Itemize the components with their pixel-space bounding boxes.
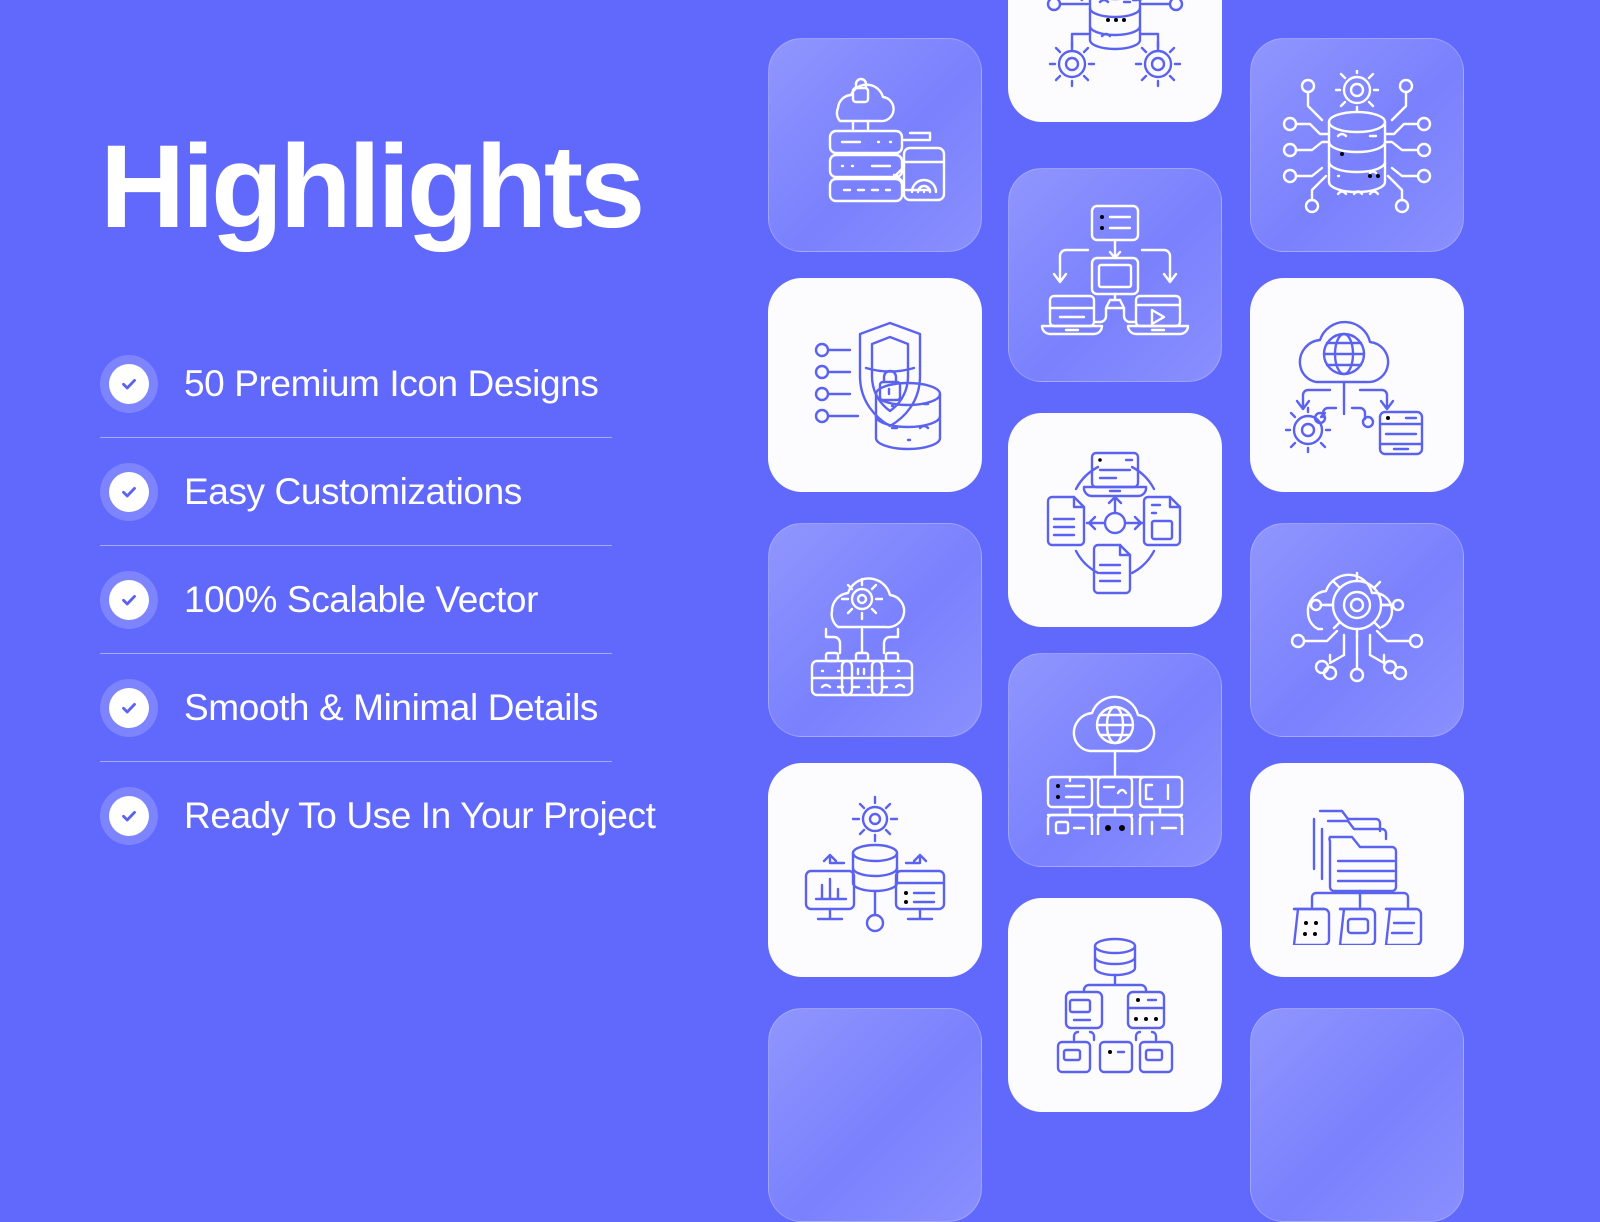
cloud-globe-gear-server-icon [1282, 310, 1432, 460]
list-item: 50 Premium Icon Designs [100, 330, 612, 437]
icon-card-database-tree-structure[interactable] [1008, 898, 1222, 1112]
check-badge [100, 571, 158, 629]
list-item: Smooth & Minimal Details [100, 654, 612, 761]
list-item-label: Ready To Use In Your Project [184, 795, 655, 837]
check-icon [109, 472, 149, 512]
icon-card-partial-bottom-left[interactable] [768, 1008, 982, 1222]
icon-grid [740, 0, 1600, 1067]
shield-lock-database-icon [800, 310, 950, 460]
database-gear-circuit-icon [1282, 70, 1432, 220]
cloud-gear-circuit-icon [1282, 555, 1432, 705]
check-icon [109, 796, 149, 836]
icon-card-cloud-database-gears[interactable] [1008, 0, 1222, 122]
partial-card-left-icon [800, 1040, 950, 1190]
icon-card-cloud-globe-gear-server[interactable] [1250, 278, 1464, 492]
icon-card-folder-hierarchy[interactable] [1250, 763, 1464, 977]
list-item-label: Easy Customizations [184, 471, 522, 513]
list-item: 100% Scalable Vector [100, 546, 612, 653]
list-item: Easy Customizations [100, 438, 612, 545]
icon-card-cloud-lock-server-fingerprint[interactable] [768, 38, 982, 252]
document-sync-devices-icon [1040, 445, 1190, 595]
icon-card-cloud-globe-network-nodes[interactable] [1008, 653, 1222, 867]
icon-card-partial-bottom-right[interactable] [1250, 1008, 1464, 1222]
check-badge [100, 679, 158, 737]
highlight-list: 50 Premium Icon Designs Easy Customizati… [100, 330, 612, 869]
cloud-globe-network-nodes-icon [1040, 685, 1190, 835]
page-title: Highlights [100, 128, 642, 246]
check-icon [109, 688, 149, 728]
check-badge [100, 355, 158, 413]
icon-card-content-distribution-devices[interactable] [1008, 168, 1222, 382]
check-badge [100, 787, 158, 845]
icon-card-gear-database-monitors[interactable] [768, 763, 982, 977]
check-icon [109, 580, 149, 620]
icon-card-cloud-gear-servers[interactable] [768, 523, 982, 737]
cloud-gear-servers-icon [800, 555, 950, 705]
icon-card-shield-lock-database[interactable] [768, 278, 982, 492]
folder-hierarchy-icon [1282, 795, 1432, 945]
check-icon [109, 364, 149, 404]
icon-card-database-gear-circuit[interactable] [1250, 38, 1464, 252]
database-tree-structure-icon [1040, 930, 1190, 1080]
list-item-label: 100% Scalable Vector [184, 579, 538, 621]
left-panel: Highlights 50 Premium Icon Designs [0, 0, 740, 1067]
gear-database-monitors-icon [800, 795, 950, 945]
list-item-label: Smooth & Minimal Details [184, 687, 598, 729]
icon-card-cloud-gear-circuit[interactable] [1250, 523, 1464, 737]
cloud-database-gears-icon [1040, 0, 1190, 90]
icon-card-document-sync-devices[interactable] [1008, 413, 1222, 627]
list-item-label: 50 Premium Icon Designs [184, 363, 598, 405]
cloud-lock-server-fingerprint-icon [800, 70, 950, 220]
partial-card-right-icon [1282, 1040, 1432, 1190]
check-badge [100, 463, 158, 521]
content-distribution-devices-icon [1040, 200, 1190, 350]
list-item: Ready To Use In Your Project [100, 762, 612, 869]
